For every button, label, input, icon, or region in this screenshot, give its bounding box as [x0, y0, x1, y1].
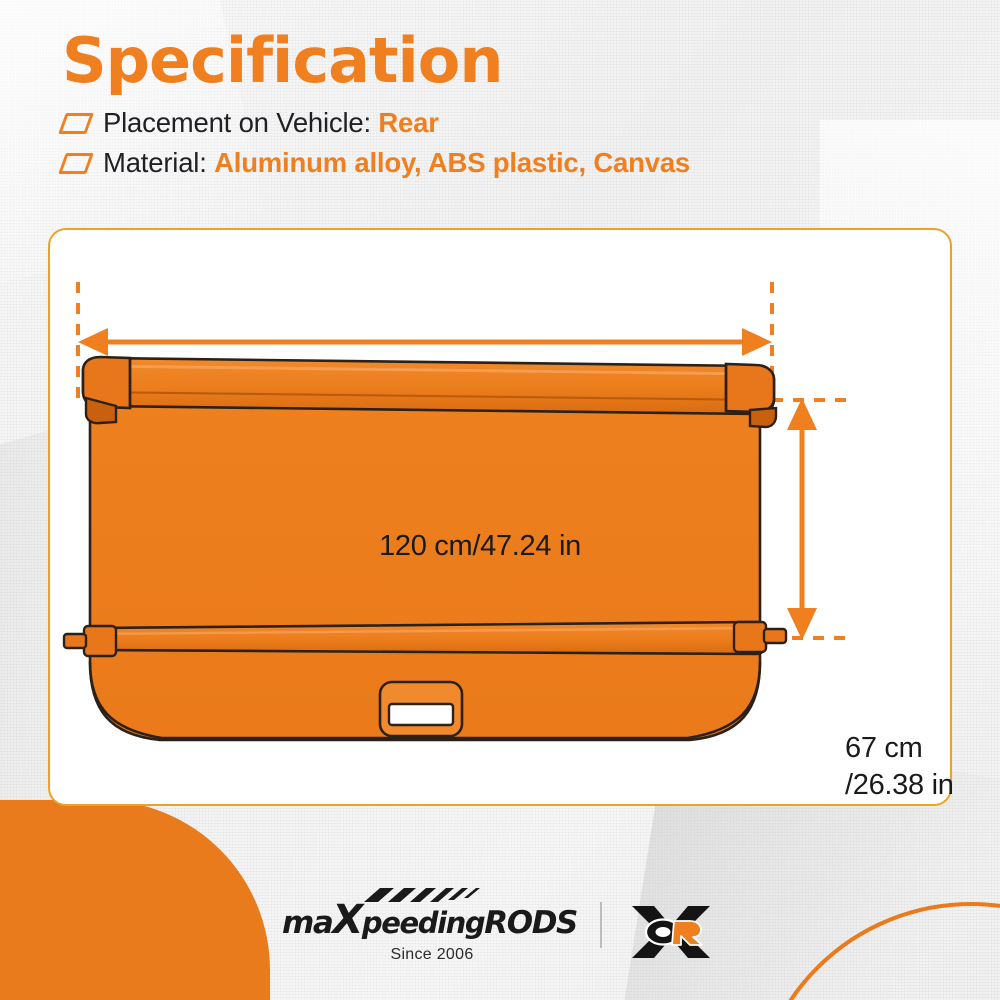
- parallelogram-bullet-icon: [58, 113, 94, 134]
- spec-item-text: Material: Aluminum alloy, ABS plastic, C…: [103, 147, 690, 179]
- product-diagram: 120 cm/47.24 in 67 cm /26.38 in: [50, 230, 950, 804]
- spec-list: Placement on Vehicle: Rear Material: Alu…: [62, 107, 962, 179]
- handle-cutout-icon: [380, 682, 462, 736]
- brand-suffix: RODS: [484, 905, 577, 941]
- spec-value: Aluminum alloy, ABS plastic, Canvas: [214, 147, 690, 178]
- spec-label: Material:: [103, 147, 207, 178]
- logo-divider: [600, 902, 602, 948]
- spec-label: Placement on Vehicle:: [103, 107, 371, 138]
- maxpeedingrods-wordmark: maXpeedingRODS: [282, 900, 582, 940]
- maxpeedingrods-logo: maXpeedingRODS Since 2006: [282, 900, 582, 964]
- brand-mid: peeding: [362, 906, 484, 940]
- height-dimension-line1: 67 cm: [845, 730, 1000, 767]
- footer: maXpeedingRODS Since 2006: [0, 900, 1000, 990]
- header: Specification Placement on Vehicle: Rear…: [62, 28, 962, 187]
- cargo-cover-illustration: [50, 230, 950, 804]
- height-dimension-line2: /26.38 in: [845, 767, 1000, 804]
- width-dimension-arrow: [78, 328, 772, 356]
- oxr-logo-icon: [628, 904, 714, 960]
- brand-prefix: ma: [282, 905, 332, 941]
- product-card: 120 cm/47.24 in 67 cm /26.38 in: [48, 228, 952, 806]
- brand-logos: maXpeedingRODS Since 2006: [282, 900, 722, 964]
- speed-stripes-icon: [364, 888, 482, 904]
- spec-value: Rear: [378, 107, 438, 138]
- brand-tagline: Since 2006: [282, 946, 582, 964]
- brand-x: X: [332, 897, 361, 943]
- pull-bar: [64, 622, 786, 656]
- parallelogram-bullet-icon: [58, 153, 94, 174]
- spec-item-text: Placement on Vehicle: Rear: [103, 107, 439, 139]
- page-title: Specification: [62, 28, 962, 93]
- spec-item-placement: Placement on Vehicle: Rear: [62, 107, 962, 139]
- infographic-canvas: Specification Placement on Vehicle: Rear…: [0, 0, 1000, 1000]
- spec-item-material: Material: Aluminum alloy, ABS plastic, C…: [62, 147, 962, 179]
- height-dimension-arrow: [787, 398, 817, 640]
- height-dimension-label: 67 cm /26.38 in: [845, 730, 1000, 804]
- width-dimension-label: 120 cm/47.24 in: [350, 530, 610, 563]
